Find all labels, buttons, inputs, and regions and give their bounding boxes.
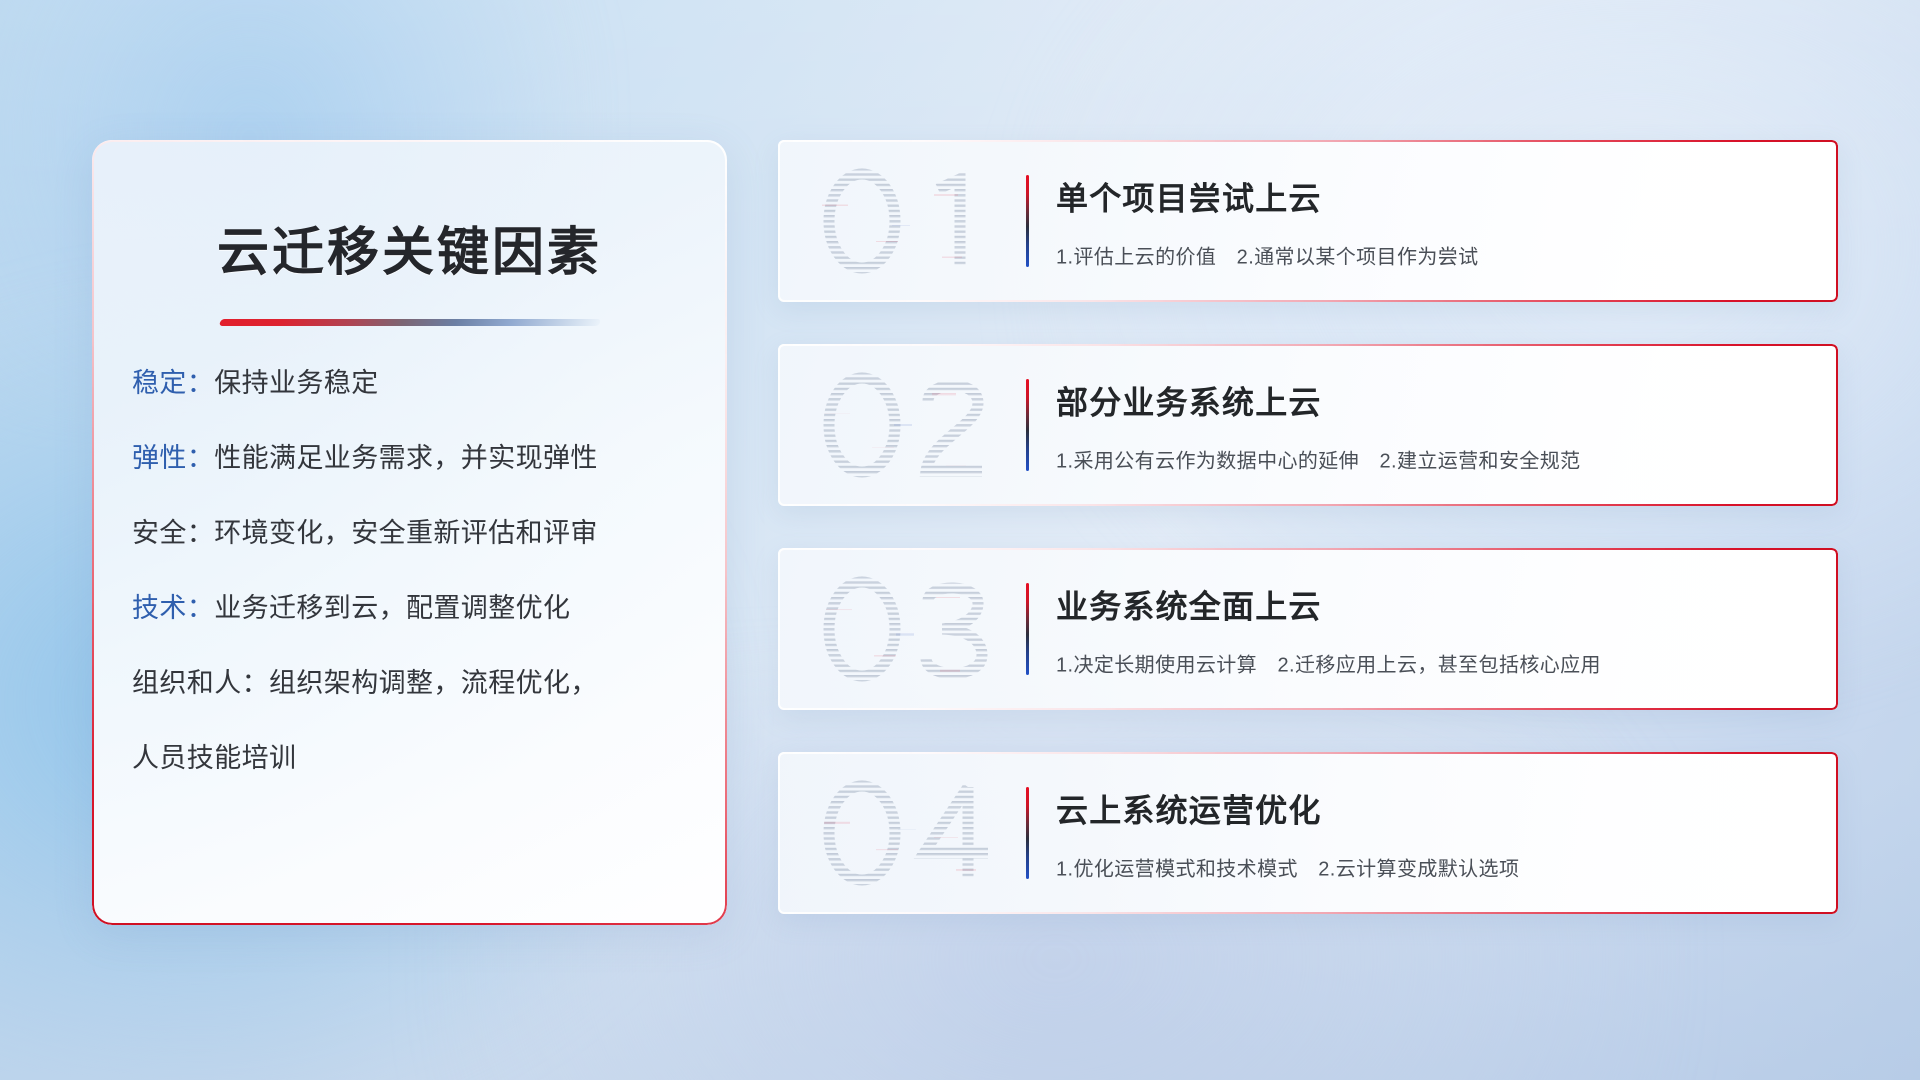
factor-value: 人员技能培训 — [132, 743, 296, 773]
stage-card[interactable]: 单个项目尝试上云 1.评估上云的价值 2.通常以某个项目作为尝试 — [778, 140, 1838, 302]
migration-stages-list: 单个项目尝试上云 1.评估上云的价值 2.通常以某个项目作为尝试 — [778, 140, 1838, 914]
factor-item: 组织和人：组织架构调整，流程优化， — [132, 670, 693, 697]
factor-item: 安全：环境变化，安全重新评估和评审 — [132, 520, 693, 547]
stage-title: 云上系统运营优化 — [1056, 790, 1812, 830]
key-factors-list: 稳定：保持业务稳定 弹性：性能满足业务需求，并实现弹性 安全：环境变化，安全重新… — [132, 370, 693, 772]
stage-number-01-icon — [806, 163, 1022, 279]
stage-title: 单个项目尝试上云 — [1056, 178, 1812, 218]
stage-divider-bar — [1026, 379, 1029, 471]
factor-label: 组织和人： — [132, 668, 269, 698]
factor-value: 保持业务稳定 — [214, 368, 378, 398]
stage-divider-bar — [1026, 175, 1029, 267]
factor-value: 组织架构调整，流程优化， — [269, 668, 598, 698]
stage-description: 1.评估上云的价值 2.通常以某个项目作为尝试 — [1056, 245, 1812, 271]
stage-text-group: 部分业务系统上云 1.采用公有云作为数据中心的延伸 2.建立运营和安全规范 — [1056, 355, 1812, 494]
title-underline-accent — [218, 319, 600, 326]
stage-divider-bar — [1026, 787, 1029, 879]
stage-card[interactable]: 部分业务系统上云 1.采用公有云作为数据中心的延伸 2.建立运营和安全规范 — [778, 344, 1838, 506]
stage-text-group: 单个项目尝试上云 1.评估上云的价值 2.通常以某个项目作为尝试 — [1056, 151, 1812, 290]
stage-number-02-icon — [806, 367, 1022, 483]
factor-item: 稳定：保持业务稳定 — [132, 370, 693, 397]
stage-number-03-icon — [806, 571, 1022, 687]
stage-description: 1.采用公有云作为数据中心的延伸 2.建立运营和安全规范 — [1056, 449, 1812, 475]
factor-value: 业务迁移到云，配置调整优化 — [214, 593, 570, 623]
stage-text-group: 云上系统运营优化 1.优化运营模式和技术模式 2.云计算变成默认选项 — [1056, 763, 1812, 902]
slide-stage: 云迁移关键因素 稳定：保持业务稳定 弹性：性能满足业务需求，并实现弹性 安全：环… — [0, 0, 1920, 1080]
factor-item-continuation: 人员技能培训 — [132, 745, 693, 772]
key-factors-panel: 云迁移关键因素 稳定：保持业务稳定 弹性：性能满足业务需求，并实现弹性 安全：环… — [92, 140, 727, 925]
factor-label: 弹性： — [132, 443, 214, 473]
factor-item: 技术：业务迁移到云，配置调整优化 — [132, 595, 693, 622]
page-title: 云迁移关键因素 — [92, 223, 727, 284]
stage-number-04-icon — [806, 775, 1022, 891]
factor-item: 弹性：性能满足业务需求，并实现弹性 — [132, 445, 693, 472]
stage-card[interactable]: 云上系统运营优化 1.优化运营模式和技术模式 2.云计算变成默认选项 — [778, 752, 1838, 914]
factor-label: 技术： — [132, 593, 214, 623]
stage-description: 1.优化运营模式和技术模式 2.云计算变成默认选项 — [1056, 857, 1812, 883]
factor-label: 安全： — [132, 518, 214, 548]
factor-label: 稳定： — [132, 368, 214, 398]
factor-value: 环境变化，安全重新评估和评审 — [214, 518, 598, 548]
stage-title: 部分业务系统上云 — [1056, 382, 1812, 422]
stage-title: 业务系统全面上云 — [1056, 586, 1812, 626]
stage-divider-bar — [1026, 583, 1029, 675]
stage-description: 1.决定长期使用云计算 2.迁移应用上云，甚至包括核心应用 — [1056, 653, 1812, 679]
factor-value: 性能满足业务需求，并实现弹性 — [214, 443, 598, 473]
stage-card[interactable]: 业务系统全面上云 1.决定长期使用云计算 2.迁移应用上云，甚至包括核心应用 — [778, 548, 1838, 710]
stage-text-group: 业务系统全面上云 1.决定长期使用云计算 2.迁移应用上云，甚至包括核心应用 — [1056, 559, 1812, 698]
key-factors-heading-group: 云迁移关键因素 — [92, 188, 727, 326]
